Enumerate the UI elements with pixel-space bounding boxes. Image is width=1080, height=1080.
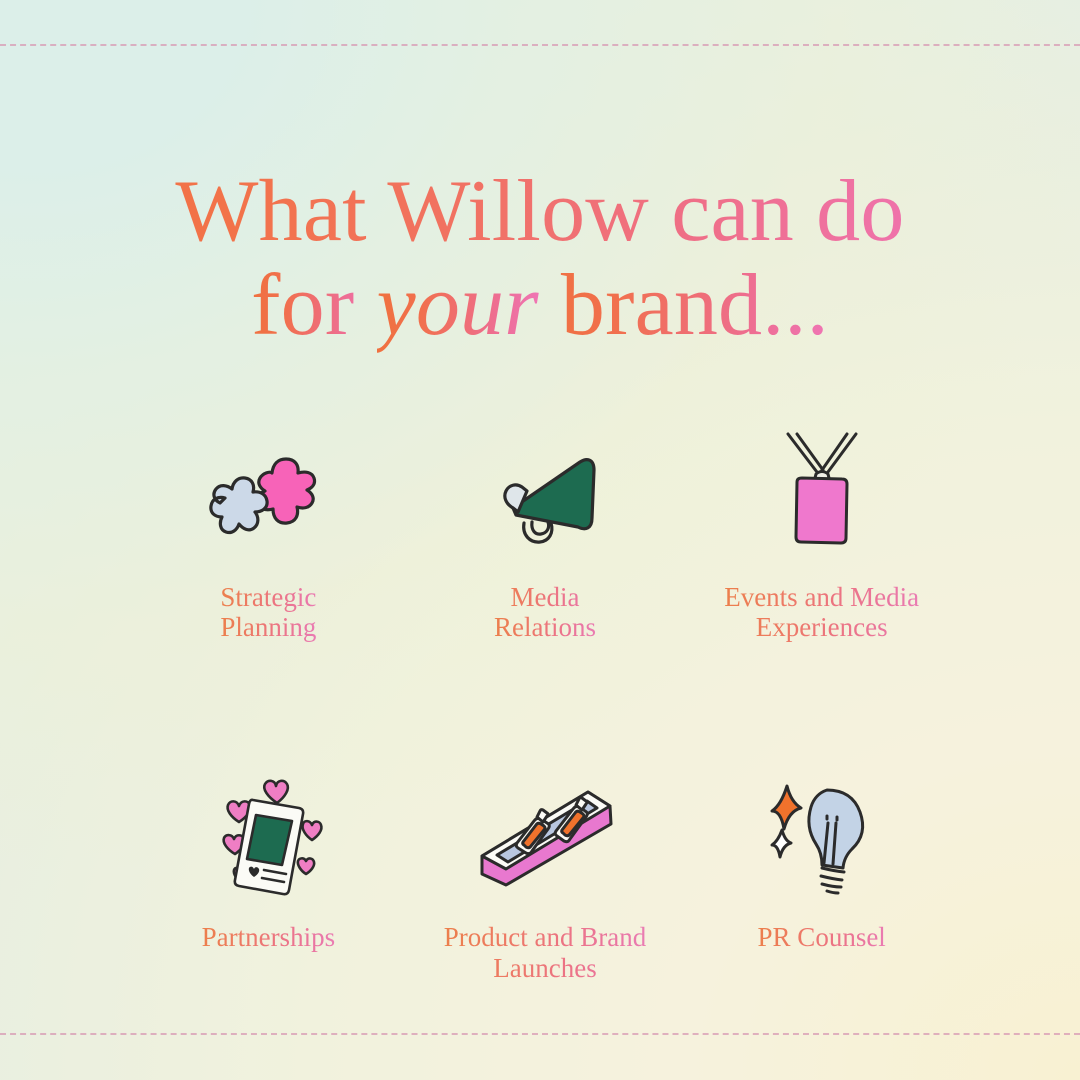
headline-line-2-after: brand... [539,257,829,354]
megaphone-icon [480,430,610,560]
service-item-product-brand-launches: Product and Brand Launches [407,770,684,982]
service-label: PR Counsel [758,922,886,952]
puzzle-pieces-icon [203,430,333,560]
top-dashed-divider [0,44,1080,46]
slide-canvas: What Willow can do for your brand... Str… [0,0,1080,1080]
page-title: What Willow can do for your brand... [0,168,1080,350]
lightbulb-icon [757,770,887,900]
service-label: Product and Brand Launches [444,922,646,982]
services-row-2: Partnerships [130,770,960,982]
headline-line-2: for your brand... [0,262,1080,350]
service-label: Partnerships [202,922,335,952]
service-item-strategic-planning: Strategic Planning [130,430,407,642]
product-box-icon [470,770,620,900]
service-label: Events and Media Experiences [724,582,919,642]
headline-emphasis-your: your [377,257,539,354]
services-grid: Strategic Planning Media Rela [130,430,960,983]
service-label: Media Relations [494,582,596,642]
headline-line-2-before: for [251,257,376,354]
service-label: Strategic Planning [220,582,316,642]
lanyard-badge-icon [757,430,887,560]
service-item-pr-counsel: PR Counsel [683,770,960,982]
phone-with-hearts-icon [203,770,333,900]
services-row-1: Strategic Planning Media Rela [130,430,960,642]
service-item-partnerships: Partnerships [130,770,407,982]
headline-line-1: What Willow can do [0,168,1080,256]
service-item-events-media-experiences: Events and Media Experiences [683,430,960,642]
service-item-media-relations: Media Relations [407,430,684,642]
bottom-dashed-divider [0,1033,1080,1035]
